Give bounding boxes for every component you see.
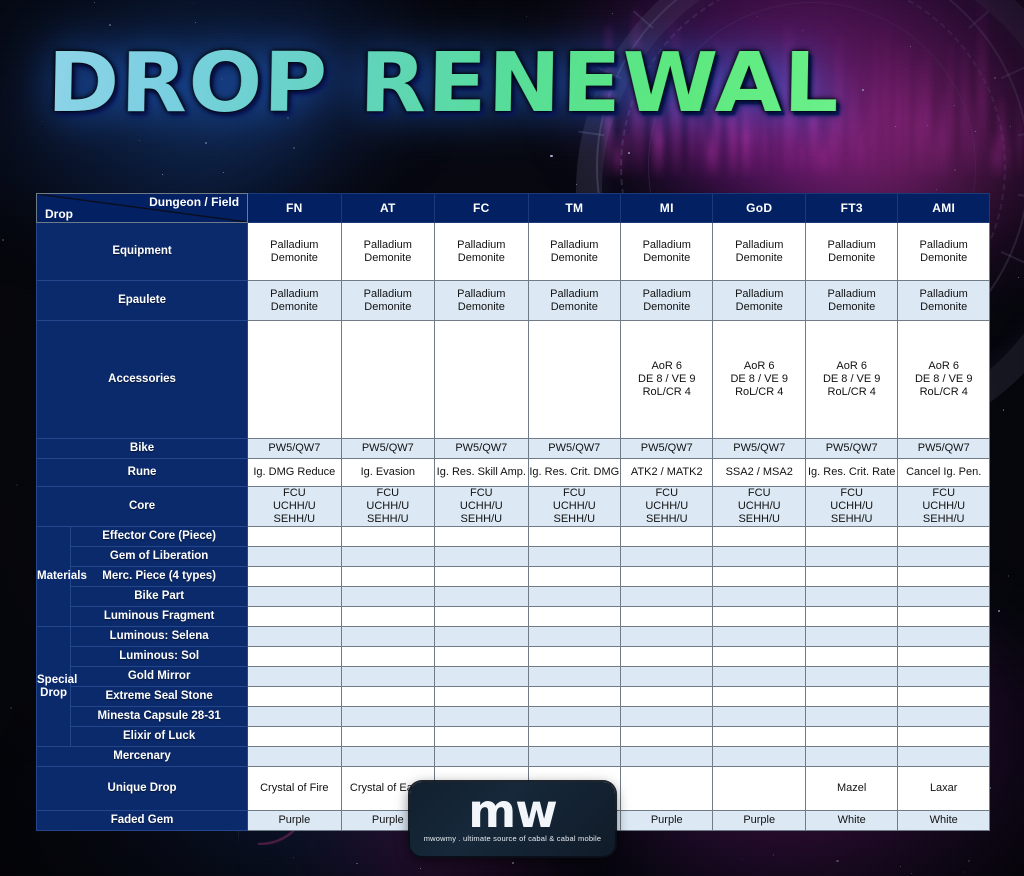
row-label-elixir-of-luck[interactable]: Elixir of Luck	[71, 727, 248, 747]
cell-gold-mirror-at[interactable]	[341, 667, 434, 687]
corner-label-dungeon: Dungeon / Field	[149, 196, 239, 209]
row-label-extreme-seal-stone[interactable]: Extreme Seal Stone	[71, 687, 248, 707]
cell-accessories-god[interactable]: AoR 6 DE 8 / VE 9 RoL/CR 4	[713, 321, 805, 439]
cell-accessories-fc[interactable]	[435, 321, 528, 439]
row-label-gold-mirror[interactable]: Gold Mirror	[71, 667, 248, 687]
cell-epaulete-mi[interactable]: Palladium Demonite	[621, 281, 713, 321]
cell-elixir-of-luck-ft3[interactable]	[805, 727, 897, 747]
cell-merc-piece-4-types-god[interactable]	[713, 567, 805, 587]
cell-extreme-seal-stone-ft3[interactable]	[805, 687, 897, 707]
cell-gem-of-liberation-fn[interactable]	[248, 547, 341, 567]
cell-minesta-capsule-28-31-fc[interactable]	[435, 707, 528, 727]
cell-effector-core-piece-mi[interactable]	[621, 527, 713, 547]
cell-merc-piece-4-types-tm[interactable]	[528, 567, 620, 587]
cell-epaulete-fc[interactable]: Palladium Demonite	[435, 281, 528, 321]
cell-effector-core-piece-god[interactable]	[713, 527, 805, 547]
cell-luminous-selena-fn[interactable]	[248, 627, 341, 647]
corner-label-drop: Drop	[45, 208, 73, 221]
cell-luminous-sol-god[interactable]	[713, 647, 805, 667]
cell-faded-gem-fn[interactable]: Purple	[248, 811, 341, 831]
cell-luminous-fragment-god[interactable]	[713, 607, 805, 627]
table-row: CoreFCU UCHH/U SEHH/UFCU UCHH/U SEHH/UFC…	[37, 487, 990, 527]
cell-effector-core-piece-fn[interactable]	[248, 527, 341, 547]
cell-luminous-fragment-ami[interactable]	[898, 607, 990, 627]
cell-epaulete-at[interactable]: Palladium Demonite	[341, 281, 434, 321]
row-label-minesta-capsule-28-31[interactable]: Minesta Capsule 28-31	[71, 707, 248, 727]
cell-mercenary-fc[interactable]	[435, 747, 528, 767]
cell-bike-part-fc[interactable]	[435, 587, 528, 607]
cell-core-fn[interactable]: FCU UCHH/U SEHH/U	[248, 487, 341, 527]
cell-equipment-mi[interactable]: Palladium Demonite	[621, 223, 713, 281]
cell-unique-drop-god[interactable]	[713, 767, 805, 811]
cell-unique-drop-mi[interactable]	[621, 767, 713, 811]
cell-luminous-fragment-at[interactable]	[341, 607, 434, 627]
cell-core-tm[interactable]: FCU UCHH/U SEHH/U	[528, 487, 620, 527]
cell-equipment-fn[interactable]: Palladium Demonite	[248, 223, 341, 281]
cell-equipment-ami[interactable]: Palladium Demonite	[898, 223, 990, 281]
column-header-at[interactable]: AT	[341, 194, 434, 223]
cell-luminous-sol-fn[interactable]	[248, 647, 341, 667]
cell-elixir-of-luck-mi[interactable]	[621, 727, 713, 747]
cell-bike-fc[interactable]: PW5/QW7	[435, 439, 528, 459]
row-label-equipment[interactable]: Equipment	[37, 223, 248, 281]
cell-effector-core-piece-ami[interactable]	[898, 527, 990, 547]
cell-rune-ami[interactable]: Cancel Ig. Pen.	[898, 459, 990, 487]
cell-epaulete-ami[interactable]: Palladium Demonite	[898, 281, 990, 321]
cell-luminous-sol-fc[interactable]	[435, 647, 528, 667]
row-label-merc-piece-4-types[interactable]: Merc. Piece (4 types)	[71, 567, 248, 587]
cell-bike-part-ami[interactable]	[898, 587, 990, 607]
cell-bike-part-ft3[interactable]	[805, 587, 897, 607]
cell-accessories-mi[interactable]: AoR 6 DE 8 / VE 9 RoL/CR 4	[621, 321, 713, 439]
cell-rune-fc[interactable]: Ig. Res. Skill Amp.	[435, 459, 528, 487]
cell-extreme-seal-stone-god[interactable]	[713, 687, 805, 707]
cell-faded-gem-mi[interactable]: Purple	[621, 811, 713, 831]
cell-luminous-fragment-tm[interactable]	[528, 607, 620, 627]
cell-equipment-at[interactable]: Palladium Demonite	[341, 223, 434, 281]
cell-gold-mirror-ami[interactable]	[898, 667, 990, 687]
cell-unique-drop-fn[interactable]: Crystal of Fire	[248, 767, 341, 811]
cell-accessories-tm[interactable]	[528, 321, 620, 439]
cell-mercenary-mi[interactable]	[621, 747, 713, 767]
cell-elixir-of-luck-ami[interactable]	[898, 727, 990, 747]
cell-equipment-ft3[interactable]: Palladium Demonite	[805, 223, 897, 281]
table-row: Extreme Seal Stone	[37, 687, 990, 707]
cell-merc-piece-4-types-ft3[interactable]	[805, 567, 897, 587]
cell-bike-mi[interactable]: PW5/QW7	[621, 439, 713, 459]
cell-mercenary-tm[interactable]	[528, 747, 620, 767]
cell-extreme-seal-stone-fc[interactable]	[435, 687, 528, 707]
row-label-epaulete[interactable]: Epaulete	[37, 281, 248, 321]
table-row: Gem of Liberation	[37, 547, 990, 567]
cell-equipment-god[interactable]: Palladium Demonite	[713, 223, 805, 281]
cell-rune-mi[interactable]: ATK2 / MATK2	[621, 459, 713, 487]
table-row: EpauletePalladium DemonitePalladium Demo…	[37, 281, 990, 321]
group-label-special-drop: Special Drop	[37, 627, 71, 747]
row-label-luminous-fragment[interactable]: Luminous Fragment	[71, 607, 248, 627]
row-label-unique-drop[interactable]: Unique Drop	[37, 767, 248, 811]
cell-epaulete-ft3[interactable]: Palladium Demonite	[805, 281, 897, 321]
cell-luminous-selena-mi[interactable]	[621, 627, 713, 647]
cell-accessories-fn[interactable]	[248, 321, 341, 439]
row-label-faded-gem[interactable]: Faded Gem	[37, 811, 248, 831]
cell-gold-mirror-ft3[interactable]	[805, 667, 897, 687]
cell-rune-tm[interactable]: Ig. Res. Crit. DMG	[528, 459, 620, 487]
column-header-tm[interactable]: TM	[528, 194, 620, 223]
cell-luminous-sol-at[interactable]	[341, 647, 434, 667]
cell-mercenary-ft3[interactable]	[805, 747, 897, 767]
table-row: Gold Mirror	[37, 667, 990, 687]
cell-core-mi[interactable]: FCU UCHH/U SEHH/U	[621, 487, 713, 527]
cell-epaulete-god[interactable]: Palladium Demonite	[713, 281, 805, 321]
cell-bike-ami[interactable]: PW5/QW7	[898, 439, 990, 459]
logo-subtitle: mwowmy . ultimate source of cabal & caba…	[410, 834, 615, 843]
site-logo[interactable]: mw mwowmy . ultimate source of cabal & c…	[410, 782, 615, 856]
row-label-effector-core-piece[interactable]: Effector Core (Piece)	[71, 527, 248, 547]
cell-faded-gem-ami[interactable]: White	[898, 811, 990, 831]
cell-extreme-seal-stone-tm[interactable]	[528, 687, 620, 707]
cell-core-god[interactable]: FCU UCHH/U SEHH/U	[713, 487, 805, 527]
row-label-core[interactable]: Core	[37, 487, 248, 527]
cell-bike-part-god[interactable]	[713, 587, 805, 607]
cell-effector-core-piece-tm[interactable]	[528, 527, 620, 547]
cell-gem-of-liberation-mi[interactable]	[621, 547, 713, 567]
cell-effector-core-piece-ft3[interactable]	[805, 527, 897, 547]
cell-luminous-sol-mi[interactable]	[621, 647, 713, 667]
cell-gold-mirror-fc[interactable]	[435, 667, 528, 687]
cell-gold-mirror-fn[interactable]	[248, 667, 341, 687]
drop-table-card: Dungeon / Field Drop FN AT FC TM MI GoD …	[36, 193, 990, 831]
cell-luminous-selena-god[interactable]	[713, 627, 805, 647]
column-header-ami[interactable]: AMI	[898, 194, 990, 223]
cell-bike-at[interactable]: PW5/QW7	[341, 439, 434, 459]
cell-elixir-of-luck-at[interactable]	[341, 727, 434, 747]
cell-luminous-selena-fc[interactable]	[435, 627, 528, 647]
cell-core-fc[interactable]: FCU UCHH/U SEHH/U	[435, 487, 528, 527]
cell-equipment-fc[interactable]: Palladium Demonite	[435, 223, 528, 281]
cell-luminous-selena-ft3[interactable]	[805, 627, 897, 647]
cell-minesta-capsule-28-31-mi[interactable]	[621, 707, 713, 727]
cell-rune-ft3[interactable]: Ig. Res. Crit. Rate	[805, 459, 897, 487]
cell-core-at[interactable]: FCU UCHH/U SEHH/U	[341, 487, 434, 527]
cell-elixir-of-luck-god[interactable]	[713, 727, 805, 747]
column-header-ft3[interactable]: FT3	[805, 194, 897, 223]
table-row: Elixir of Luck	[37, 727, 990, 747]
cell-rune-god[interactable]: SSA2 / MSA2	[713, 459, 805, 487]
cell-extreme-seal-stone-mi[interactable]	[621, 687, 713, 707]
cell-luminous-selena-ami[interactable]	[898, 627, 990, 647]
cell-gem-of-liberation-tm[interactable]	[528, 547, 620, 567]
cell-epaulete-fn[interactable]: Palladium Demonite	[248, 281, 341, 321]
cell-minesta-capsule-28-31-fn[interactable]	[248, 707, 341, 727]
page-title-wrap: DROP RENEWAL	[48, 38, 796, 130]
cell-luminous-fragment-fn[interactable]	[248, 607, 341, 627]
column-header-fc[interactable]: FC	[435, 194, 528, 223]
cell-luminous-sol-ft3[interactable]	[805, 647, 897, 667]
cell-gold-mirror-tm[interactable]	[528, 667, 620, 687]
table-row: Minesta Capsule 28-31	[37, 707, 990, 727]
cell-luminous-fragment-ft3[interactable]	[805, 607, 897, 627]
row-label-accessories[interactable]: Accessories	[37, 321, 248, 439]
table-row: EquipmentPalladium DemonitePalladium Dem…	[37, 223, 990, 281]
drop-table-body: EquipmentPalladium DemonitePalladium Dem…	[37, 223, 990, 831]
cell-faded-gem-ft3[interactable]: White	[805, 811, 897, 831]
cell-bike-part-at[interactable]	[341, 587, 434, 607]
column-header-god[interactable]: GoD	[713, 194, 805, 223]
cell-luminous-selena-at[interactable]	[341, 627, 434, 647]
row-label-gem-of-liberation[interactable]: Gem of Liberation	[71, 547, 248, 567]
cell-gem-of-liberation-ft3[interactable]	[805, 547, 897, 567]
cell-rune-fn[interactable]: Ig. DMG Reduce	[248, 459, 341, 487]
column-header-mi[interactable]: MI	[621, 194, 713, 223]
cell-bike-ft3[interactable]: PW5/QW7	[805, 439, 897, 459]
cell-bike-fn[interactable]: PW5/QW7	[248, 439, 341, 459]
cell-gem-of-liberation-ami[interactable]	[898, 547, 990, 567]
cell-faded-gem-god[interactable]: Purple	[713, 811, 805, 831]
cell-equipment-tm[interactable]: Palladium Demonite	[528, 223, 620, 281]
cell-mercenary-at[interactable]	[341, 747, 434, 767]
table-row: BikePW5/QW7PW5/QW7PW5/QW7PW5/QW7PW5/QW7P…	[37, 439, 990, 459]
cell-epaulete-tm[interactable]: Palladium Demonite	[528, 281, 620, 321]
cell-effector-core-piece-fc[interactable]	[435, 527, 528, 547]
table-row: AccessoriesAoR 6 DE 8 / VE 9 RoL/CR 4AoR…	[37, 321, 990, 439]
cell-mercenary-fn[interactable]	[248, 747, 341, 767]
cell-core-ft3[interactable]: FCU UCHH/U SEHH/U	[805, 487, 897, 527]
cell-mercenary-god[interactable]	[713, 747, 805, 767]
row-label-luminous-selena[interactable]: Luminous: Selena	[71, 627, 248, 647]
cell-minesta-capsule-28-31-ft3[interactable]	[805, 707, 897, 727]
table-header-row: Dungeon / Field Drop FN AT FC TM MI GoD …	[37, 194, 990, 223]
cell-merc-piece-4-types-mi[interactable]	[621, 567, 713, 587]
cell-mercenary-ami[interactable]	[898, 747, 990, 767]
cell-bike-part-fn[interactable]	[248, 587, 341, 607]
cell-extreme-seal-stone-ami[interactable]	[898, 687, 990, 707]
cell-elixir-of-luck-fn[interactable]	[248, 727, 341, 747]
cell-bike-part-mi[interactable]	[621, 587, 713, 607]
column-header-fn[interactable]: FN	[248, 194, 341, 223]
logo-mark: mw	[410, 786, 615, 836]
cell-accessories-ft3[interactable]: AoR 6 DE 8 / VE 9 RoL/CR 4	[805, 321, 897, 439]
cell-merc-piece-4-types-at[interactable]	[341, 567, 434, 587]
table-row: Merc. Piece (4 types)	[37, 567, 990, 587]
cell-bike-part-tm[interactable]	[528, 587, 620, 607]
cell-bike-tm[interactable]: PW5/QW7	[528, 439, 620, 459]
cell-luminous-fragment-fc[interactable]	[435, 607, 528, 627]
cell-accessories-ami[interactable]: AoR 6 DE 8 / VE 9 RoL/CR 4	[898, 321, 990, 439]
table-row: Luminous Fragment	[37, 607, 990, 627]
table-row: Special DropLuminous: Selena	[37, 627, 990, 647]
cell-luminous-sol-tm[interactable]	[528, 647, 620, 667]
cell-elixir-of-luck-tm[interactable]	[528, 727, 620, 747]
cell-extreme-seal-stone-at[interactable]	[341, 687, 434, 707]
cell-accessories-at[interactable]	[341, 321, 434, 439]
cell-elixir-of-luck-fc[interactable]	[435, 727, 528, 747]
cell-effector-core-piece-at[interactable]	[341, 527, 434, 547]
cell-unique-drop-ami[interactable]: Laxar	[898, 767, 990, 811]
cell-bike-god[interactable]: PW5/QW7	[713, 439, 805, 459]
cell-minesta-capsule-28-31-god[interactable]	[713, 707, 805, 727]
table-row: Bike Part	[37, 587, 990, 607]
cell-minesta-capsule-28-31-at[interactable]	[341, 707, 434, 727]
cell-unique-drop-ft3[interactable]: Mazel	[805, 767, 897, 811]
row-label-luminous-sol[interactable]: Luminous: Sol	[71, 647, 248, 667]
cell-luminous-fragment-mi[interactable]	[621, 607, 713, 627]
cell-merc-piece-4-types-fc[interactable]	[435, 567, 528, 587]
cell-minesta-capsule-28-31-tm[interactable]	[528, 707, 620, 727]
cell-merc-piece-4-types-fn[interactable]	[248, 567, 341, 587]
cell-gem-of-liberation-at[interactable]	[341, 547, 434, 567]
cell-luminous-selena-tm[interactable]	[528, 627, 620, 647]
cell-luminous-sol-ami[interactable]	[898, 647, 990, 667]
row-label-mercenary[interactable]: Mercenary	[37, 747, 248, 767]
table-row: MaterialsEffector Core (Piece)	[37, 527, 990, 547]
table-row: Mercenary	[37, 747, 990, 767]
row-label-bike[interactable]: Bike	[37, 439, 248, 459]
cell-core-ami[interactable]: FCU UCHH/U SEHH/U	[898, 487, 990, 527]
row-label-rune[interactable]: Rune	[37, 459, 248, 487]
group-label-materials: Materials	[37, 527, 71, 627]
cell-gold-mirror-mi[interactable]	[621, 667, 713, 687]
table-row: RuneIg. DMG ReduceIg. EvasionIg. Res. Sk…	[37, 459, 990, 487]
cell-extreme-seal-stone-fn[interactable]	[248, 687, 341, 707]
drop-table: Dungeon / Field Drop FN AT FC TM MI GoD …	[36, 193, 990, 831]
corner-header-cell: Dungeon / Field Drop	[37, 194, 248, 223]
cell-gem-of-liberation-god[interactable]	[713, 547, 805, 567]
cell-gem-of-liberation-fc[interactable]	[435, 547, 528, 567]
cell-rune-at[interactable]: Ig. Evasion	[341, 459, 434, 487]
page-title: DROP RENEWAL	[46, 38, 840, 130]
cell-minesta-capsule-28-31-ami[interactable]	[898, 707, 990, 727]
cell-merc-piece-4-types-ami[interactable]	[898, 567, 990, 587]
row-label-bike-part[interactable]: Bike Part	[71, 587, 248, 607]
cell-gold-mirror-god[interactable]	[713, 667, 805, 687]
table-row: Luminous: Sol	[37, 647, 990, 667]
